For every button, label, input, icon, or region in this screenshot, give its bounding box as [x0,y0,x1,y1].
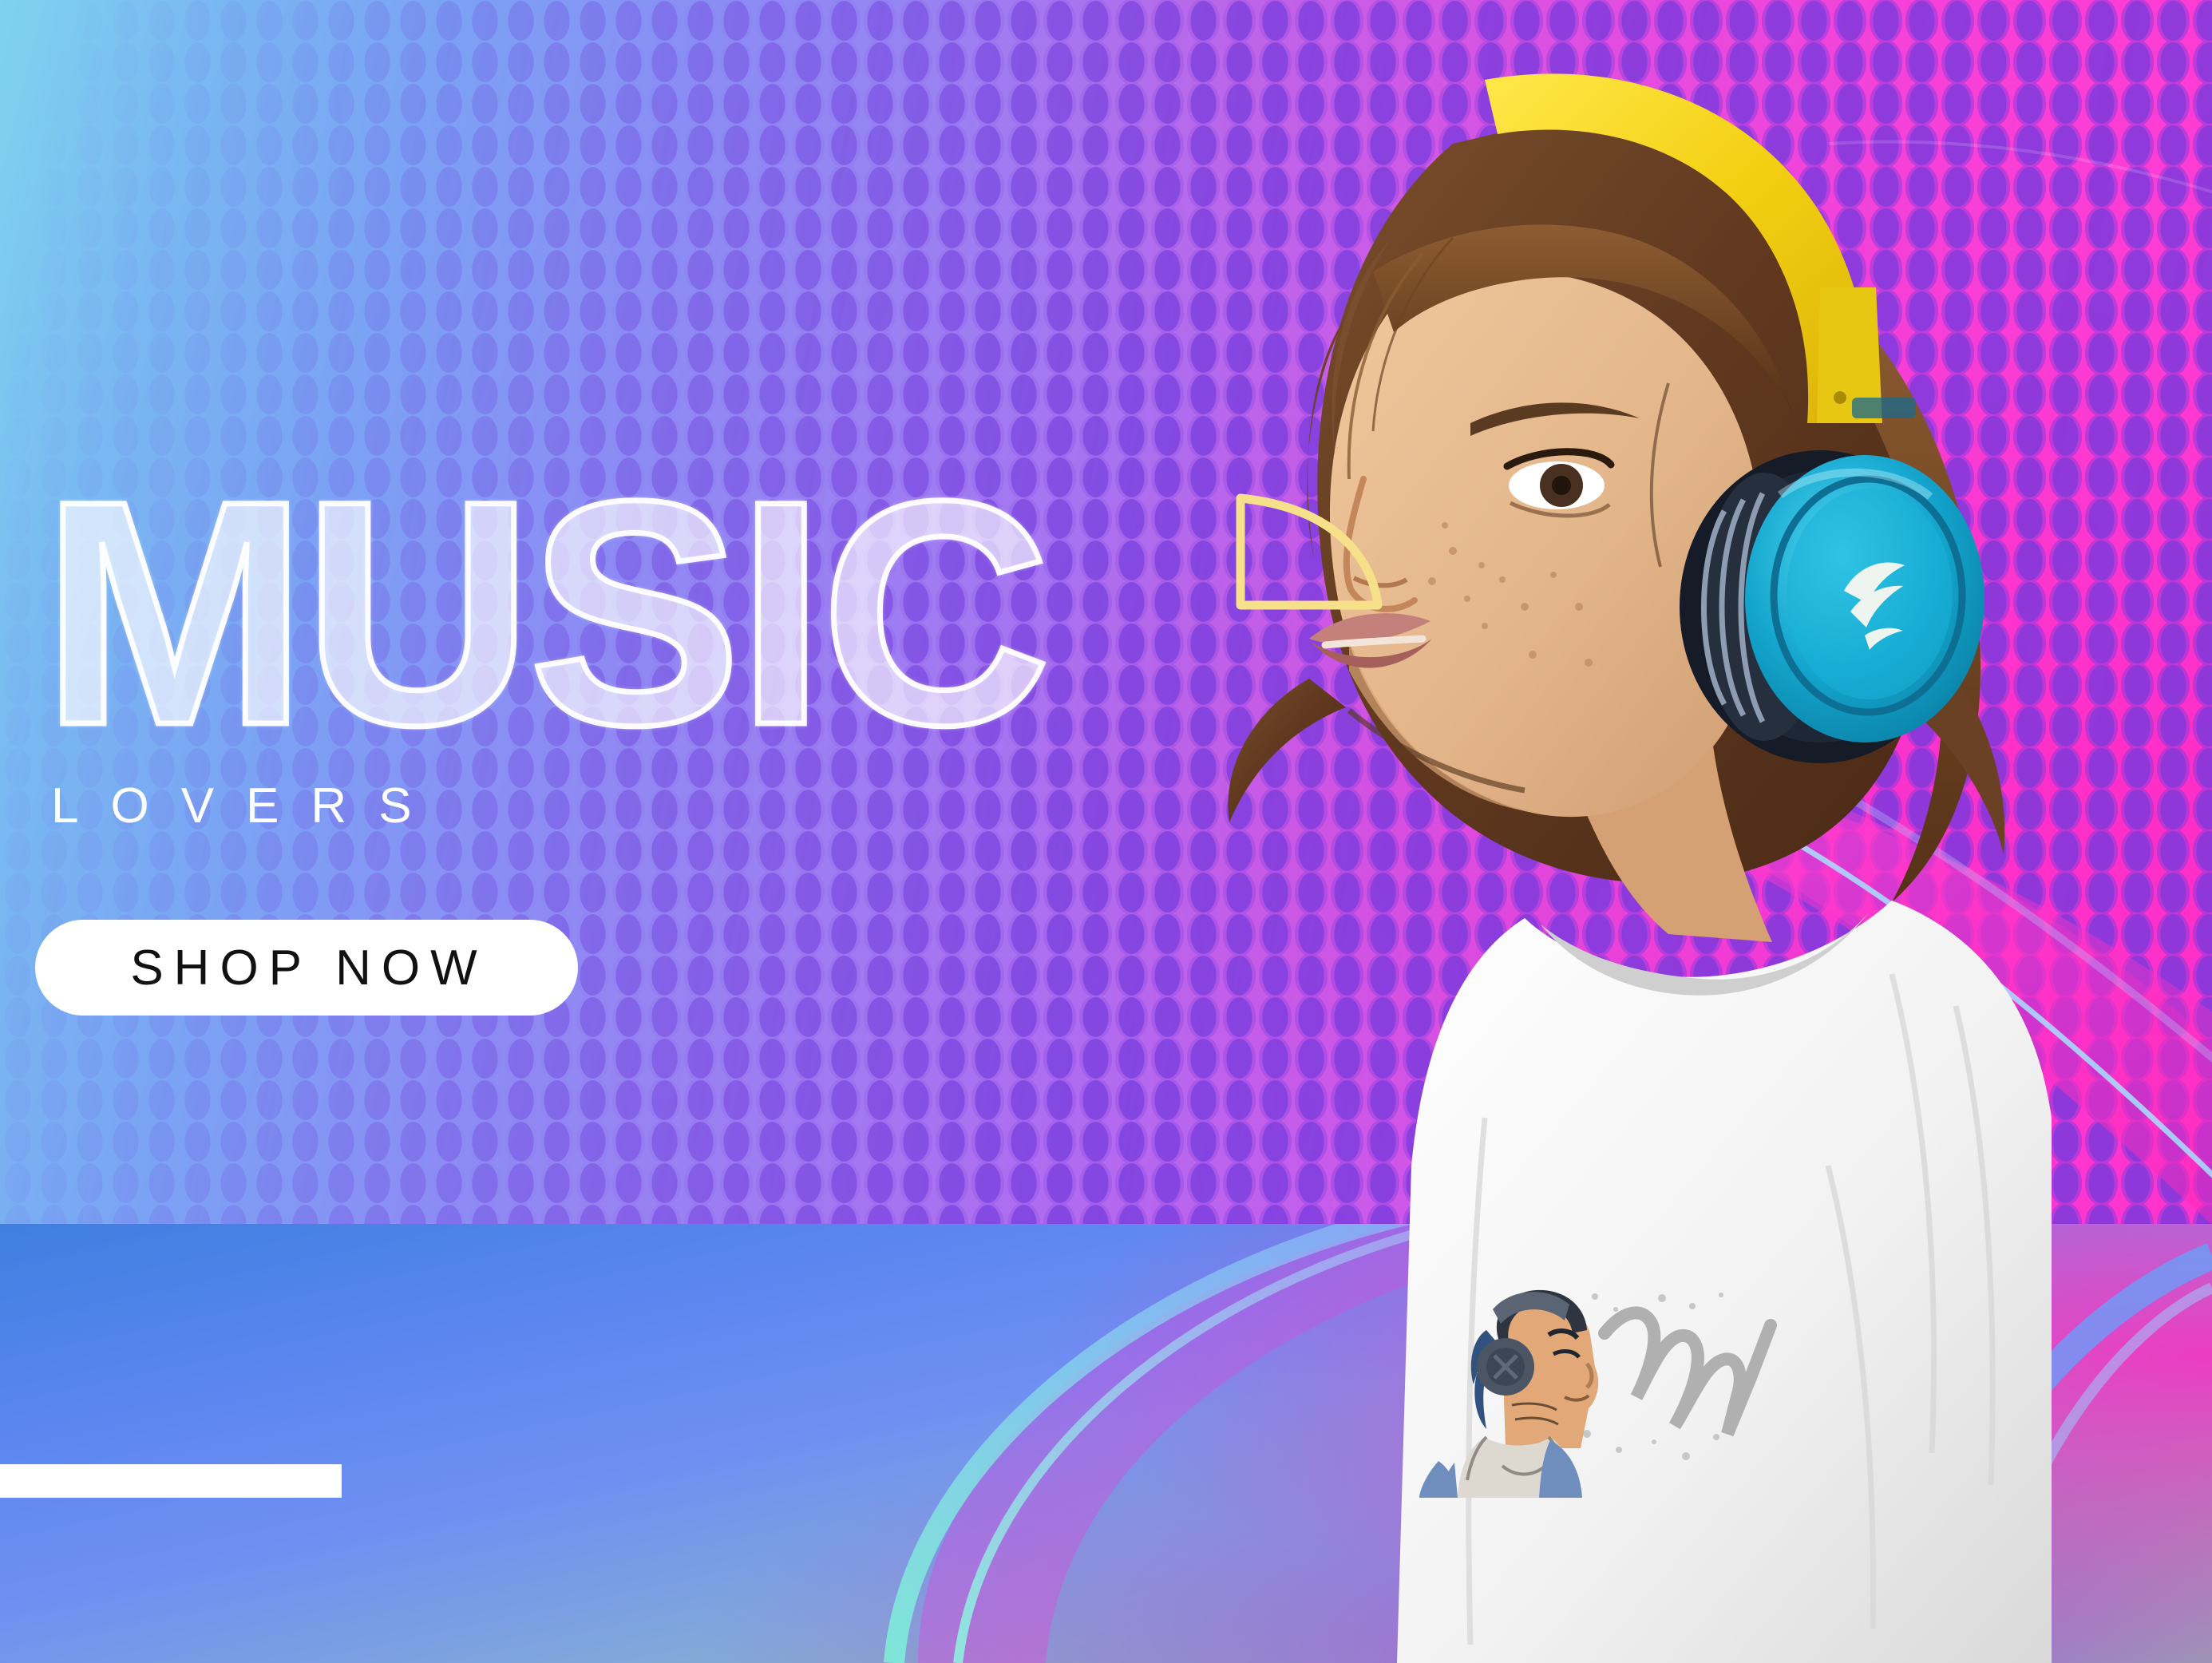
decorative-white-bar [0,1464,342,1498]
music-lovers-banner: MUSIC LOVERS SHOP NOW [0,0,2212,1663]
model-photo-woman-with-headphones [1110,48,2052,1663]
shop-now-button[interactable]: SHOP NOW [35,920,578,1016]
headline-block: MUSIC LOVERS [42,469,1383,834]
page-title: MUSIC [42,469,1383,757]
